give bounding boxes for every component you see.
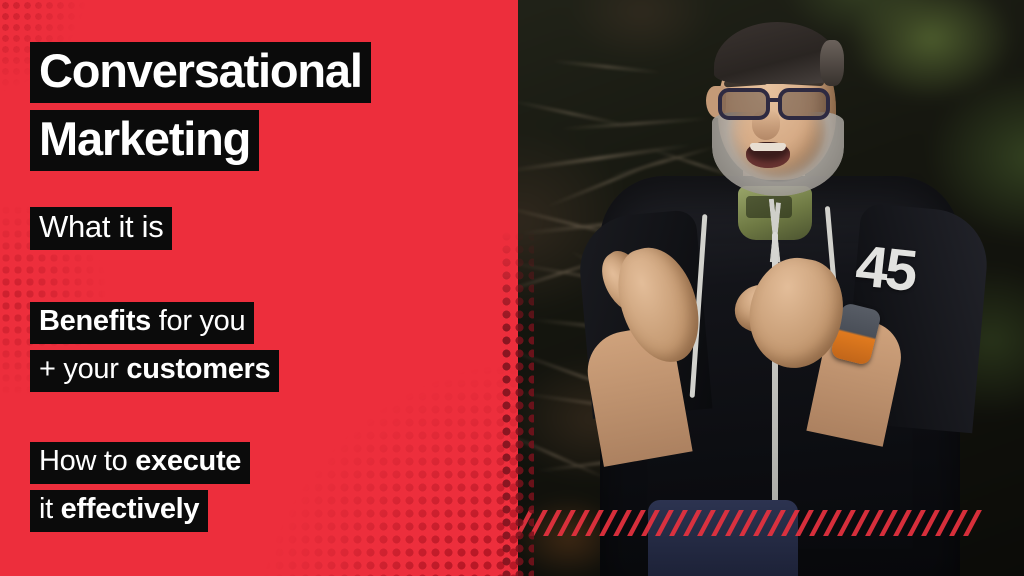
eyeglass-lens-left (718, 88, 770, 120)
red-slash-strip (500, 508, 1024, 538)
title-line-2-text: Marketing (30, 110, 259, 171)
hair (714, 22, 840, 84)
highlighted-text-box: How to execute (30, 442, 250, 484)
video-thumbnail-slide: 45 (0, 0, 1024, 576)
teeth (750, 143, 786, 151)
page-title: Conversational Marketing (30, 42, 371, 171)
slash-mark (963, 510, 982, 536)
title-line-2: Marketing (30, 110, 371, 171)
bullet-line: What it is (30, 207, 172, 250)
bullet-line: it effectively (30, 490, 250, 532)
eyeglass-lens-right (778, 88, 830, 120)
text-segment: What it is (39, 209, 163, 244)
highlighted-text-box: What it is (30, 207, 172, 250)
text-segment: How to (39, 445, 135, 477)
title-line-1-text: Conversational (30, 42, 371, 103)
text-segment: customers (126, 353, 270, 385)
presenter-figure: 45 (500, 0, 1024, 576)
bullet-how-to-execute: How to executeit effectively (30, 442, 250, 532)
bullet-what-it-is: What it is (30, 207, 172, 250)
text-segment: execute (135, 445, 241, 477)
bullet-line: Benefits for you (30, 302, 279, 344)
title-line-1: Conversational (30, 42, 371, 103)
presenter-photo: 45 (500, 0, 1024, 576)
highlighted-text-box: Benefits for you (30, 302, 254, 344)
slide-copy: Conversational Marketing What it is Bene… (0, 0, 518, 576)
bullet-line: How to execute (30, 442, 250, 484)
text-segment: effectively (61, 493, 200, 525)
bullet-line: + your customers (30, 350, 279, 392)
text-segment: it (39, 493, 61, 525)
highlighted-text-box: it effectively (30, 490, 208, 532)
eyeglasses-icon (714, 88, 840, 120)
text-segment: for you (151, 305, 245, 337)
text-segment: + your (39, 353, 126, 385)
highlighted-text-box: + your customers (30, 350, 279, 392)
bullet-benefits: Benefits for you+ your customers (30, 302, 279, 392)
text-segment: Benefits (39, 305, 151, 337)
hoodie-number-graphic: 45 (853, 237, 917, 301)
